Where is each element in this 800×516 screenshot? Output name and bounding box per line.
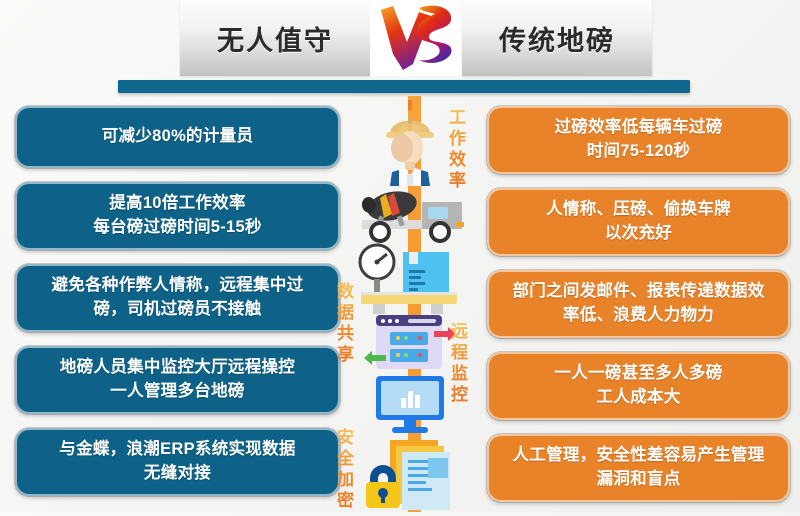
advantage-card-4: 地磅人员集中监控大厅远程操控一人管理多台地磅 xyxy=(15,346,340,414)
advantage-card-2: 提高10倍工作效率每台磅过磅时间5-15秒 xyxy=(15,182,340,250)
vs-icon xyxy=(373,2,459,74)
drawback-card-5: 人工管理，安全性差容易产生管理漏洞和盲点 xyxy=(487,434,790,502)
advantage-card-5: 与金蝶，浪潮ERP系统实现数据无缝对接 xyxy=(15,428,340,496)
header-plate-left: 无人值守 xyxy=(180,0,370,76)
header: 无人值守 xyxy=(0,0,800,96)
drawback-card-1: 过磅效率低每辆车过磅时间75-120秒 xyxy=(487,106,790,174)
label-remote-monitoring: 远程监控 xyxy=(445,322,470,406)
advantage-card-1: 可减少80%的计量员 xyxy=(15,106,340,168)
advantage-card-3: 避免各种作弊人情称，远程集中过磅，司机过磅员不接触 xyxy=(15,264,340,332)
label-security-encryption: 安全加密 xyxy=(331,428,356,512)
infographic-root: 无人值守 xyxy=(0,0,800,512)
header-divider-bar xyxy=(118,80,690,93)
header-title-left: 无人值守 xyxy=(217,19,333,58)
label-data-sharing: 数据共享 xyxy=(331,282,356,366)
drawbacks-column: 过磅效率低每辆车过磅时间75-120秒 人情称、压磅、偷换车牌以次充好 部门之间… xyxy=(487,106,790,516)
drawback-card-4: 一人一磅甚至多人多磅工人成本大 xyxy=(487,352,790,420)
header-title-right: 传统地磅 xyxy=(499,19,615,58)
advantages-column: 可减少80%的计量员 提高10倍工作效率每台磅过磅时间5-15秒 避免各种作弊人… xyxy=(15,106,340,510)
cement-mixer-truck-icon xyxy=(330,184,490,246)
drawback-card-3: 部门之间发邮件、报表传递数据效率低、浪费人力物力 xyxy=(487,270,790,338)
header-plate-right: 传统地磅 xyxy=(462,0,652,76)
vs-badge xyxy=(370,0,462,76)
drawback-card-2: 人情称、压磅、偷换车牌以次充好 xyxy=(487,188,790,256)
label-work-efficiency: 工作效率 xyxy=(443,108,468,192)
